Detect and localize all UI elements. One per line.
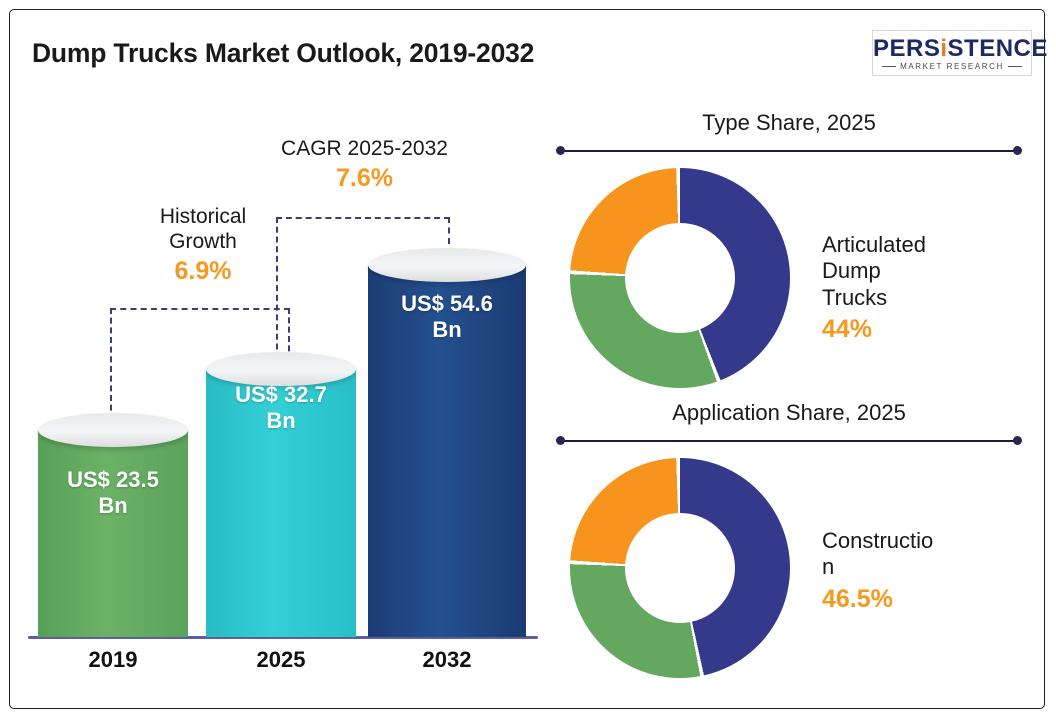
legend-type-share-line3: Trucks bbox=[822, 285, 1018, 311]
logo-wordmark-part1: PERS bbox=[873, 35, 940, 62]
bar-2019-value-label: US$ 23.5 Bn bbox=[38, 467, 188, 518]
logo-wordmark-i: i bbox=[940, 35, 947, 62]
rule-dot-right bbox=[1013, 436, 1022, 445]
bar-2032[interactable]: US$ 54.6 Bn 2032 bbox=[368, 95, 526, 675]
bar-2032-value-line2: Bn bbox=[368, 317, 526, 343]
logo-rule-left bbox=[882, 66, 896, 67]
bar-2019[interactable]: US$ 23.5 Bn 2019 bbox=[38, 95, 188, 675]
legend-application-share: Constructio n 46.5% bbox=[822, 528, 1018, 614]
rule-dot-left bbox=[556, 146, 565, 155]
infographic-root: Dump Trucks Market Outlook, 2019-2032 PE… bbox=[0, 0, 1056, 720]
legend-application-share-value: 46.5% bbox=[822, 584, 1018, 614]
page-title: Dump Trucks Market Outlook, 2019-2032 bbox=[32, 38, 534, 69]
legend-type-share-value: 44% bbox=[822, 314, 1018, 344]
donut-application-share[interactable] bbox=[570, 458, 790, 678]
rule-line bbox=[561, 440, 1017, 442]
donut-type-share[interactable] bbox=[570, 168, 790, 388]
dash-cagr-top bbox=[276, 217, 450, 219]
dash-hist-left bbox=[110, 308, 112, 430]
bar-2032-value-label: US$ 54.6 Bn bbox=[368, 291, 526, 342]
panel-application-share-title: Application Share, 2025 bbox=[556, 400, 1022, 426]
legend-application-share-line1: Constructio bbox=[822, 528, 1018, 554]
donut-type-share-hole bbox=[625, 223, 735, 333]
rule-line bbox=[561, 150, 1017, 152]
bar-2025-cylinder-top bbox=[206, 352, 356, 386]
rule-dot-right bbox=[1013, 146, 1022, 155]
bar-2025-value-line1: US$ 32.7 bbox=[206, 382, 356, 408]
bar-2025-value-line2: Bn bbox=[206, 408, 356, 434]
bar-2025-value-label: US$ 32.7 Bn bbox=[206, 382, 356, 433]
logo-tagline-row: MARKET RESEARCH bbox=[873, 62, 1031, 71]
panel-type-share-title: Type Share, 2025 bbox=[556, 110, 1022, 136]
logo-tagline: MARKET RESEARCH bbox=[900, 62, 1004, 71]
panel-type-share: Type Share, 2025 Articulated Dump Trucks… bbox=[556, 110, 1022, 395]
bar-2032-cylinder-top bbox=[368, 248, 526, 282]
panel-application-share: Application Share, 2025 Constructio n 46… bbox=[556, 400, 1022, 685]
bar-2019-cylinder-top bbox=[38, 413, 188, 447]
logo: PERSiSTENCE MARKET RESEARCH bbox=[872, 30, 1032, 76]
bar-2019-value-line1: US$ 23.5 bbox=[38, 467, 188, 493]
bar-2019-cylinder-body bbox=[38, 430, 188, 637]
bar-chart: Historical Growth 6.9% CAGR 2025-2032 7.… bbox=[20, 95, 540, 675]
legend-type-share-line1: Articulated bbox=[822, 232, 1018, 258]
legend-type-share: Articulated Dump Trucks 44% bbox=[822, 232, 1018, 344]
bar-2019-value-line2: Bn bbox=[38, 493, 188, 519]
rule-dot-left bbox=[556, 436, 565, 445]
logo-wordmark: PERSiSTENCE bbox=[873, 35, 1031, 63]
dash-hist-top bbox=[110, 308, 290, 310]
dash-cagr-left bbox=[276, 217, 278, 369]
donut-application-share-hole bbox=[625, 513, 735, 623]
bar-2025-year-label: 2025 bbox=[206, 647, 356, 673]
panel-type-share-rule bbox=[556, 146, 1022, 156]
bar-2019-year-label: 2019 bbox=[38, 647, 188, 673]
bar-2025[interactable]: US$ 32.7 Bn 2025 bbox=[206, 95, 356, 675]
bar-2032-value-line1: US$ 54.6 bbox=[368, 291, 526, 317]
bar-2032-year-label: 2032 bbox=[368, 647, 526, 673]
logo-rule-right bbox=[1008, 66, 1022, 67]
panel-application-share-rule bbox=[556, 436, 1022, 446]
legend-type-share-line2: Dump bbox=[822, 258, 1018, 284]
legend-application-share-line2: n bbox=[822, 554, 1018, 580]
logo-wordmark-part2: STENCE bbox=[948, 35, 1048, 62]
